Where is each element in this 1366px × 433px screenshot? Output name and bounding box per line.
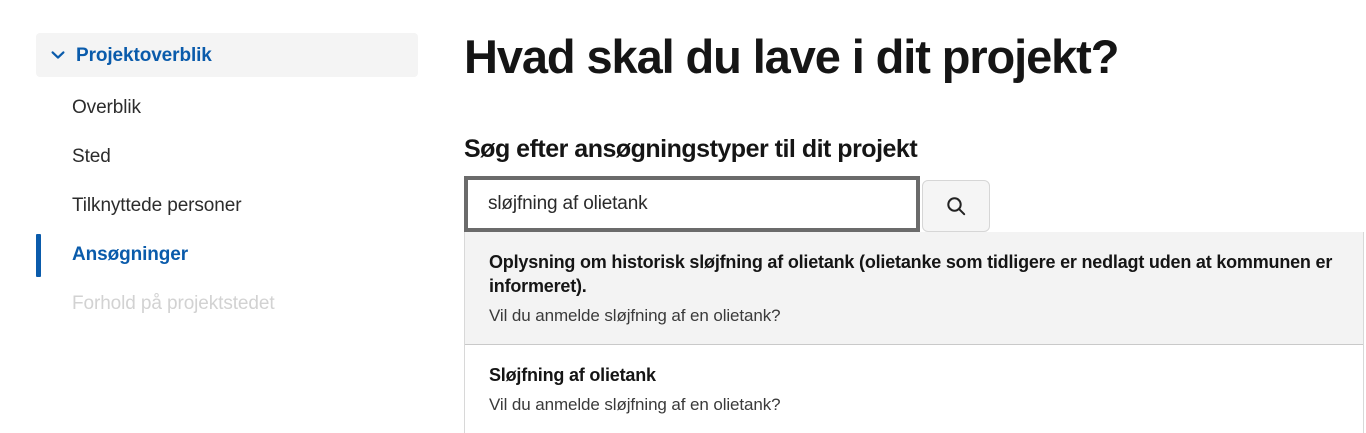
sidebar: Projektoverblik Overblik Sted Tilknytted…	[0, 0, 430, 430]
sidebar-item-ansogninger[interactable]: Ansøgninger	[36, 231, 418, 280]
suggestion-item[interactable]: Sløjfning af olietank Vil du anmelde slø…	[465, 345, 1363, 433]
active-indicator-bar	[36, 234, 41, 277]
sidebar-item-list: Overblik Sted Tilknyttede personer Ansøg…	[36, 84, 418, 329]
sidebar-item-label: Sted	[72, 146, 111, 169]
search-submit-button[interactable]	[922, 180, 990, 232]
suggestion-description: Vil du anmelde sløjfning af en olietank?	[489, 305, 1339, 326]
suggestion-title: Oplysning om historisk sløjfning af olie…	[489, 251, 1339, 299]
suggestion-description: Vil du anmelde sløjfning af en olietank?	[489, 394, 1339, 415]
suggestion-item[interactable]: Oplysning om historisk sløjfning af olie…	[465, 232, 1363, 345]
section-title: Søg efter ansøgningstyper til dit projek…	[464, 134, 917, 164]
sidebar-group-label: Projektoverblik	[76, 46, 212, 65]
search-icon	[944, 194, 968, 218]
sidebar-group-projektoverblik[interactable]: Projektoverblik	[36, 33, 418, 77]
sidebar-item-forhold-pa-projektstedet: Forhold på projektstedet	[36, 280, 418, 329]
sidebar-item-label: Tilknyttede personer	[72, 195, 241, 218]
sidebar-item-label: Ansøgninger	[72, 244, 188, 267]
search-suggestions-dropdown: Oplysning om historisk sløjfning af olie…	[464, 232, 1364, 433]
main-content: Hvad skal du lave i dit projekt? Søg eft…	[464, 0, 1366, 430]
sidebar-item-overblik[interactable]: Overblik	[36, 84, 418, 133]
search-field-wrapper	[464, 176, 920, 232]
chevron-down-icon	[48, 45, 68, 65]
search-input[interactable]	[468, 180, 916, 228]
suggestion-title: Sløjfning af olietank	[489, 364, 1339, 388]
sidebar-item-sted[interactable]: Sted	[36, 133, 418, 182]
search-row	[464, 176, 988, 232]
page-title: Hvad skal du lave i dit projekt?	[464, 29, 1118, 85]
sidebar-item-label: Forhold på projektstedet	[72, 293, 275, 316]
sidebar-item-tilknyttede-personer[interactable]: Tilknyttede personer	[36, 182, 418, 231]
sidebar-item-label: Overblik	[72, 97, 141, 120]
